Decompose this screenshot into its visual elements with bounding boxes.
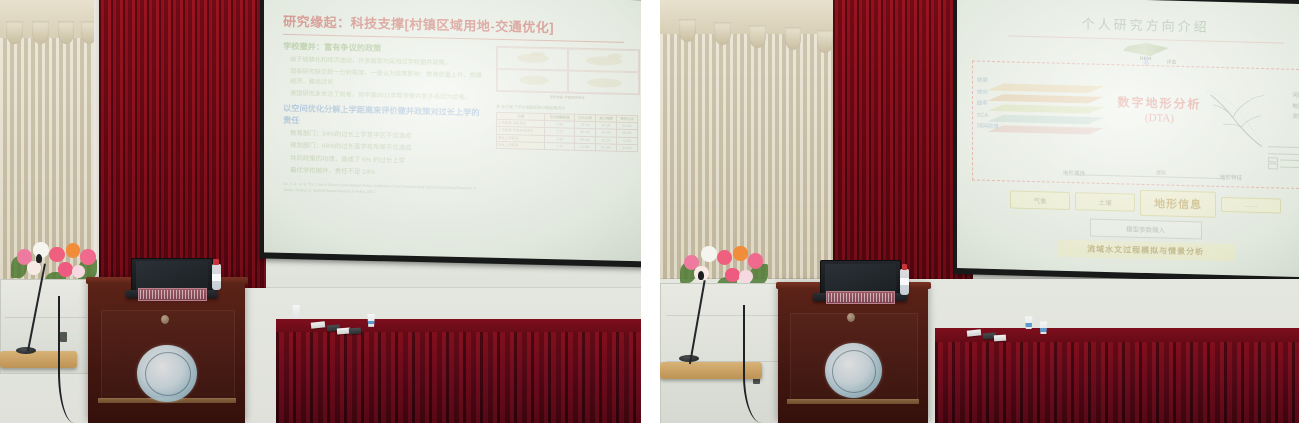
table-cell: 2.21 (545, 128, 575, 136)
photo-left: 研究缘起：科技支撑[村镇区域用地-交通优化] 学校撤并：富有争议的政策 由于城镇… (0, 0, 641, 423)
table-cell: 1.94 (545, 135, 575, 143)
bullet-heading-2: 以空间优化分解上学距离来评价撤并政策对过长上学的责任 (283, 103, 485, 132)
extract-connector (1077, 174, 1225, 178)
curtain-tassel (32, 21, 49, 44)
curtain-tassel (679, 19, 696, 42)
legend-row (1268, 164, 1299, 169)
table-cell: 52.1% (595, 136, 616, 144)
name-card (349, 328, 361, 335)
table-cell: 45.3% (595, 129, 616, 137)
slide-bullets-column: 学校撤并：富有争议的政策 由于城镇化和经济波动，许多国家均采用过学校撤并政策。 … (283, 41, 485, 197)
podium-nameplate (138, 288, 207, 301)
table-cell: 58.2% (574, 135, 595, 143)
input-chip-row: 气象 土壤 地形信息 …… (969, 185, 1299, 220)
feature-label: 河网 (1292, 91, 1299, 102)
layer-label: SCA (977, 110, 999, 122)
podium (88, 281, 245, 423)
institution-emblem (825, 343, 882, 398)
table-cell: 现优上学距离 (496, 141, 544, 149)
table-header-cell: 过长比例 (574, 114, 595, 122)
table-header-cell: 平均通勤距离 (545, 113, 575, 121)
map-panel-grid (496, 46, 640, 95)
legend-row (1268, 157, 1299, 162)
slide-title: 研究缘起：科技支撑[村镇区域用地-交通优化] (283, 11, 638, 38)
terrain-feature-label: 地形特征 (1220, 173, 1242, 182)
chip-terrain-information: 地形信息 (1140, 190, 1216, 218)
curtain-tassel (817, 30, 834, 53)
table-cell: 61.4% (595, 143, 616, 151)
chip-other: …… (1221, 197, 1281, 214)
layer-labels: 坡度 坡向 曲率 SCA 河网密度 (977, 75, 999, 133)
laptop-screen (136, 261, 208, 289)
simulation-output-box: 流域水文过程模拟与情景分析 (1057, 239, 1235, 261)
table-cell: 1.72 (545, 142, 575, 150)
slide-citation: Du, Y. Q., et al. The Cost of School Con… (283, 182, 485, 198)
arrow-label: 详查 (1166, 58, 1176, 65)
table-cell: 66.1% (574, 128, 595, 136)
podium-knob (161, 315, 169, 324)
slide-content-right: 个人研究方向介绍 DEM 详查 (957, 0, 1299, 278)
table-header-cell: 责任占比 (616, 115, 637, 123)
projection-screen: 个人研究方向介绍 DEM 详查 (954, 0, 1299, 284)
dem-terrain-icon (1123, 42, 1169, 56)
map-thumb (497, 47, 568, 71)
slide-title: 个人研究方向介绍 (969, 10, 1299, 38)
name-card (994, 335, 1006, 342)
podium-nameplate (826, 291, 895, 304)
chip-meteorology: 气象 (1010, 190, 1070, 210)
legend-row (1268, 151, 1299, 156)
layer-label: 坡向 (977, 87, 999, 99)
legend-row (1268, 144, 1299, 149)
projection-screen: 研究缘起：科技支撑[村镇区域用地-交通优化] 学校撤并：富有争议的政策 由于城镇… (260, 0, 641, 267)
table-cell: 66.0% (616, 129, 637, 137)
bullet-sub-2: 现有研究缺乏统一分析框架，一般认为政策影响：教育质量上升，规模经济，路远过长 (290, 67, 485, 90)
table-cell: 41.8% (574, 142, 595, 150)
map-thumb (568, 48, 639, 72)
microphone-head (698, 271, 704, 280)
projection-screen-surface: 个人研究方向介绍 DEM 详查 (957, 0, 1299, 278)
table-cell: 34.2% (595, 122, 616, 130)
podium (778, 286, 928, 423)
dta-core-chinese: 数字地形分析 (1111, 93, 1208, 113)
slide-figure-column: 学校布局-学区同步优化 表 各方案下学生通勤距离分解结果统计 方案 平均通勤距离… (496, 46, 638, 201)
map-thumb (497, 69, 568, 93)
model-parameter-box: 模型参数输入 (1090, 218, 1202, 239)
laptop-screen (825, 264, 896, 293)
table-cell: 6.0% (616, 136, 637, 144)
curtain-tassel (749, 25, 766, 48)
photo-pair: 研究缘起：科技支撑[村镇区域用地-交通优化] 学校撤并：富有争议的政策 由于城镇… (0, 0, 1299, 423)
water-bottle (212, 264, 221, 290)
curtain-tassel (714, 22, 731, 45)
extract-label: 提取 (1156, 169, 1166, 176)
bullet-sub-3: 美国研究多关注了前者，但中国2012年暂停撤并更多是因为后者。 (290, 89, 485, 103)
lecture-hall-scene-left: 研究缘起：科技支撑[村镇区域用地-交通优化] 学校撤并：富有争议的政策 由于城镇… (0, 0, 641, 423)
draped-table-skirt (276, 332, 641, 423)
draped-table-skirt (935, 342, 1299, 423)
water-bottle (900, 269, 909, 295)
photo-right: 个人研究方向介绍 DEM 详查 (660, 0, 1299, 423)
table-caption: 表 各方案下学生通勤距离分解结果统计 (496, 104, 638, 113)
feature-labels: 河网 地形单元 流域边界 (1292, 91, 1299, 123)
layer-label: 曲率 (977, 98, 999, 110)
river-network-diagram (1201, 88, 1270, 151)
table-cell: 78.7% (574, 121, 595, 129)
layer-label: 河网密度 (977, 121, 999, 133)
slide-content-left: 研究缘起：科技支撑[村镇区域用地-交通优化] 学校撤并：富有争议的政策 由于城镇… (263, 0, 641, 261)
dta-framework-box: 详查 坡度 坡向 曲率 (972, 60, 1299, 189)
feature-label: 流域边界 (1292, 112, 1299, 123)
projection-screen-surface: 研究缘起：科技支撑[村镇区域用地-交通优化] 学校撤并：富有争议的政策 由于城镇… (263, 0, 641, 261)
slide-table: 方案 平均通勤距离 过长比例 减少幅度 责任占比 上学距离-学区优化 2.68 (496, 112, 638, 152)
raster-layer-stack (987, 83, 1104, 147)
table-cell: 34.0% (616, 122, 637, 130)
table-header-cell: 减少幅度 (595, 115, 616, 123)
layer-label: 坡度 (977, 75, 999, 87)
table-cell: 2.68 (545, 120, 575, 128)
map-thumb (568, 70, 639, 94)
dta-core-label: 数字地形分析 (DTA) (1111, 93, 1208, 126)
table-cell: 14.0% (616, 143, 637, 151)
lecture-hall-scene-right: 个人研究方向介绍 DEM 详查 (660, 0, 1299, 423)
map-legend (1268, 144, 1299, 171)
podium-trim (787, 399, 919, 404)
microphone-head (36, 254, 42, 263)
institution-emblem (137, 345, 197, 402)
dta-core-english: (DTA) (1111, 111, 1208, 126)
chip-soil: 土壤 (1075, 192, 1135, 212)
feature-label: 地形单元 (1292, 101, 1299, 112)
